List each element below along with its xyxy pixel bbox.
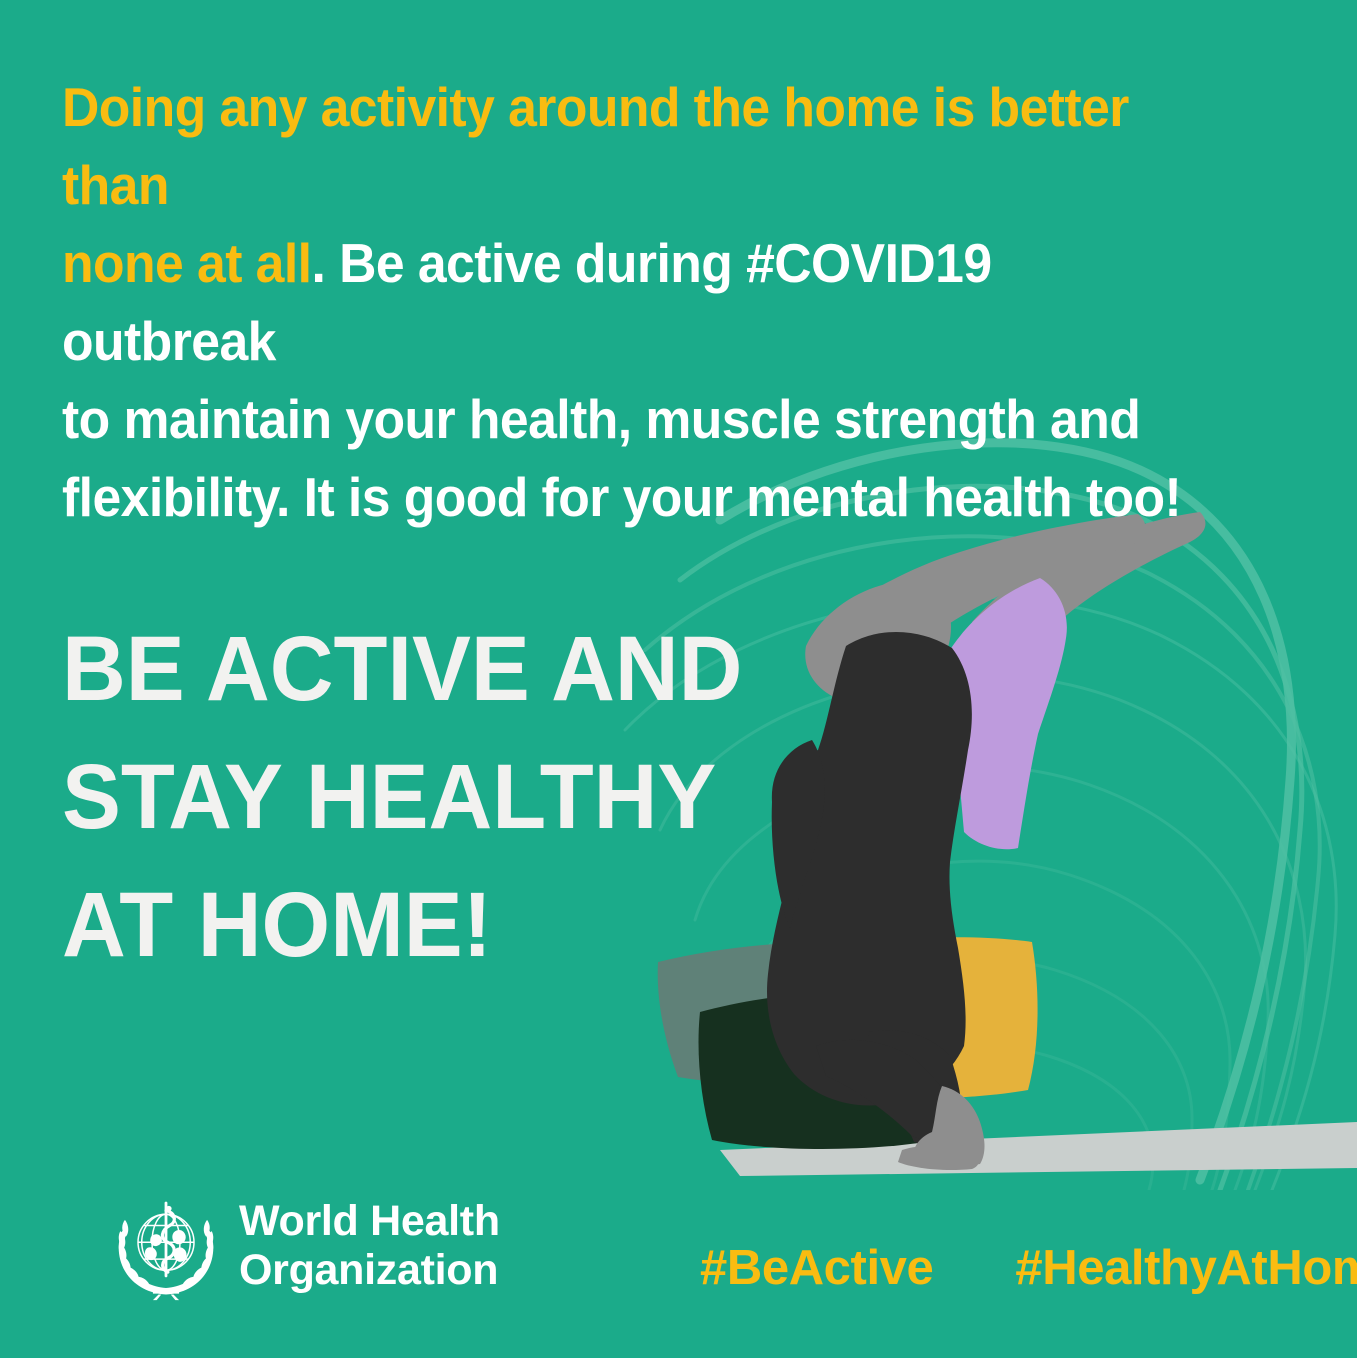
who-logo: World Health Organization [110, 1190, 500, 1302]
who-wordmark-line-2: Organization [239, 1246, 500, 1295]
intro-line-3: to maintain your health, muscle strength… [62, 380, 1190, 458]
hashtag-beactive[interactable]: #BeActive [700, 1240, 933, 1296]
intro-highlight-1: Doing any activity around the home is be… [62, 76, 1129, 216]
who-be-active-poster: Doing any activity around the home is be… [0, 0, 1357, 1358]
intro-highlight-2: none at all [62, 232, 311, 294]
hashtag-healthyathome[interactable]: #HealthyAtHome [1015, 1240, 1357, 1296]
who-wordmark: World Health Organization [239, 1197, 500, 1295]
hashtag-row: #BeActive #HealthyAtHome [700, 1240, 1357, 1296]
intro-line-1: Doing any activity around the home is be… [62, 68, 1190, 224]
who-wordmark-line-1: World Health [239, 1197, 500, 1246]
who-emblem-icon [110, 1190, 222, 1302]
intro-line-2: none at all. Be active during #COVID19 o… [62, 224, 1190, 380]
illustration-person-stretching [620, 450, 1357, 1190]
